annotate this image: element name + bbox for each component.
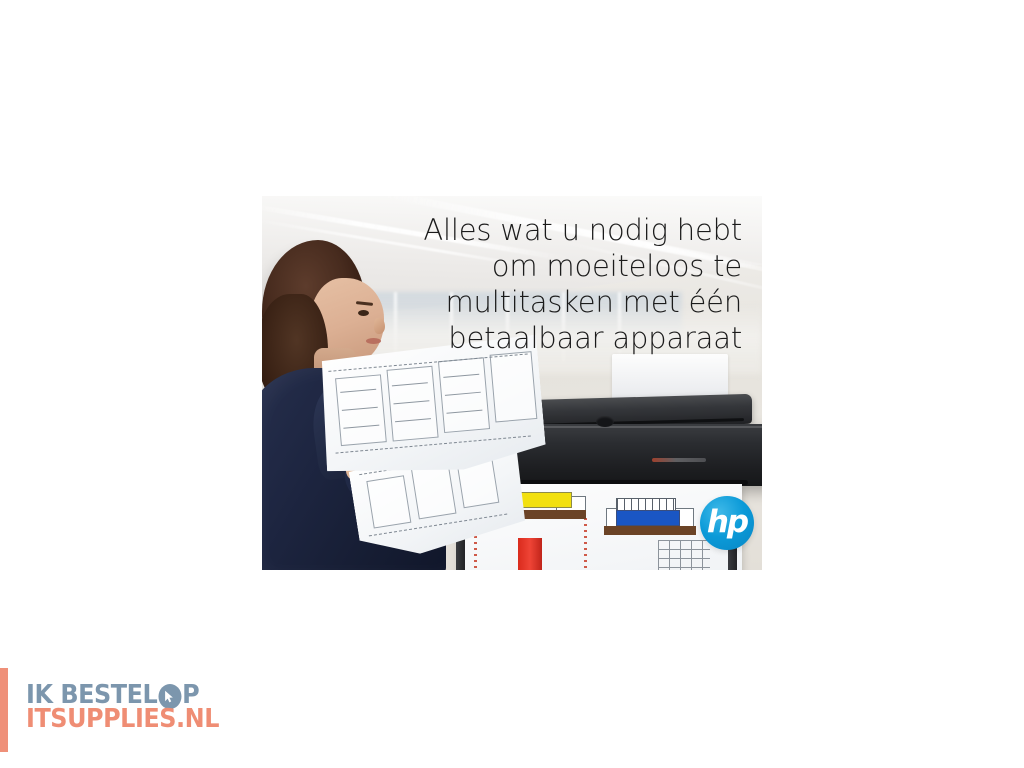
promo-banner-image: hp Alles wat u nodig hebt om moeiteloos … [262,196,762,570]
logo-line-secondary: ITSUPPLIES.NL [26,704,219,734]
printer-model-badge [652,458,706,462]
logo-accent-bar [0,668,8,752]
promo-headline: Alles wat u nodig hebt om moeiteloos te … [342,212,742,356]
printer-top-button [596,416,614,427]
headline-line-1: Alles wat u nodig hebt [342,212,742,248]
drawing-blue-zone [616,510,680,526]
hp-logo: hp [700,496,754,550]
headline-line-2: om moeiteloos te [342,248,742,284]
drawing-red-core [518,538,542,570]
headline-line-4: betaalbaar apparaat [342,320,742,356]
drawing-dimension-marks [584,518,587,570]
shop-logo[interactable]: IK BESTEL P ITSUPPLIES.NL [0,655,300,765]
headline-line-3: multitasken met één [342,284,742,320]
hp-logo-text: hp [700,496,754,550]
drawing-brown-base [604,526,696,535]
